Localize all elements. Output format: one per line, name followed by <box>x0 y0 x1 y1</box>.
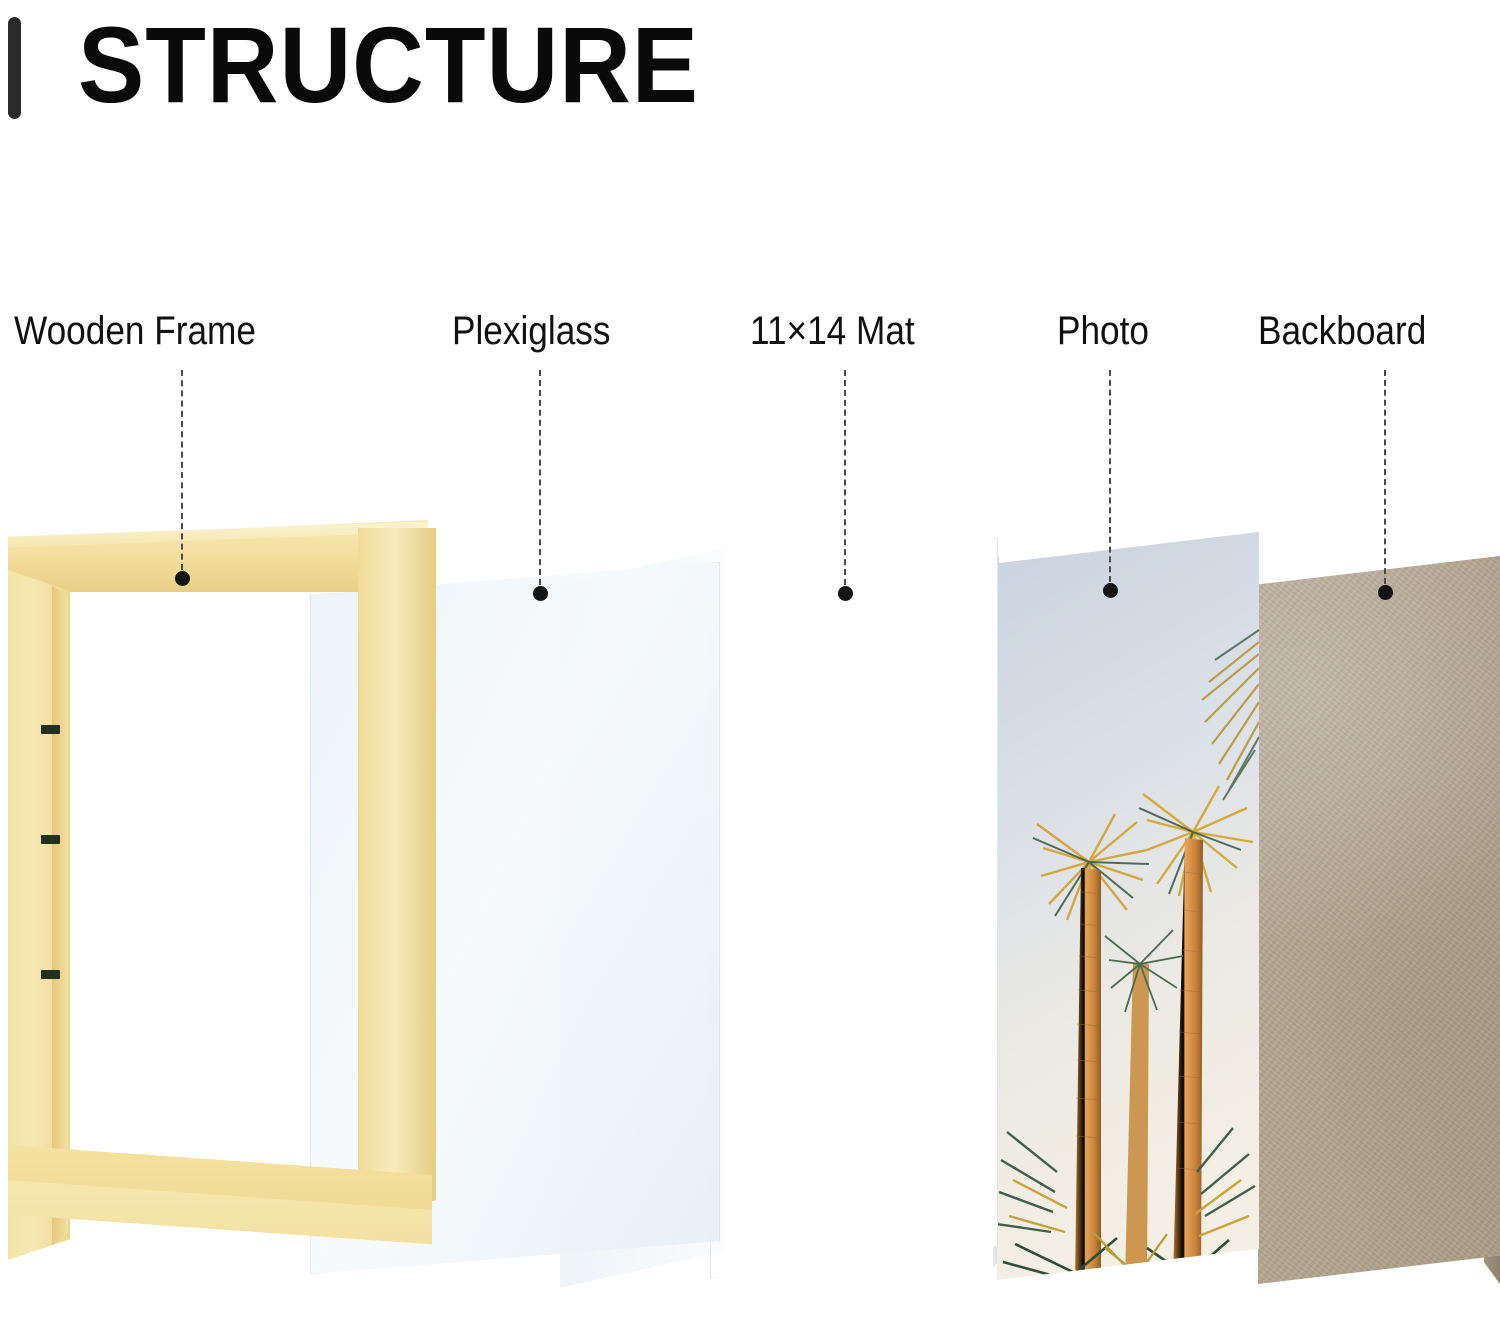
leader-line-backboard <box>1384 370 1386 584</box>
leader-dot-wooden-frame <box>175 571 190 586</box>
label-wooden-frame: Wooden Frame <box>14 308 256 354</box>
layer-mat <box>710 538 998 1278</box>
frame-clip-icon <box>41 970 60 979</box>
label-plexiglass: Plexiglass <box>452 308 610 354</box>
leader-dot-photo <box>1103 583 1118 598</box>
label-photo: Photo <box>1057 308 1149 354</box>
leader-line-photo <box>1109 370 1111 582</box>
structure-diagram: STRUCTURE <box>0 0 1500 1323</box>
layer-backboard <box>1258 556 1500 1284</box>
exploded-layer-stack <box>0 0 1500 1323</box>
leader-line-mat <box>844 370 846 585</box>
backboard-texture <box>1258 556 1500 1284</box>
palm-tree-photograph <box>997 532 1259 1280</box>
leader-dot-plexiglass <box>533 586 548 601</box>
leader-dot-backboard <box>1378 585 1393 600</box>
label-mat: 11×14 Mat <box>750 308 915 354</box>
leader-line-plexiglass <box>539 370 541 585</box>
layer-wooden-frame <box>8 520 428 1260</box>
frame-left-inner-bevel <box>52 586 68 1246</box>
layer-photo <box>997 532 1259 1280</box>
leader-line-wooden-frame <box>181 370 183 570</box>
leader-dot-mat <box>838 586 853 601</box>
label-backboard: Backboard <box>1258 308 1426 354</box>
frame-right-rail <box>358 528 436 1228</box>
frame-clip-icon <box>41 725 60 734</box>
frame-clip-icon <box>41 835 60 844</box>
